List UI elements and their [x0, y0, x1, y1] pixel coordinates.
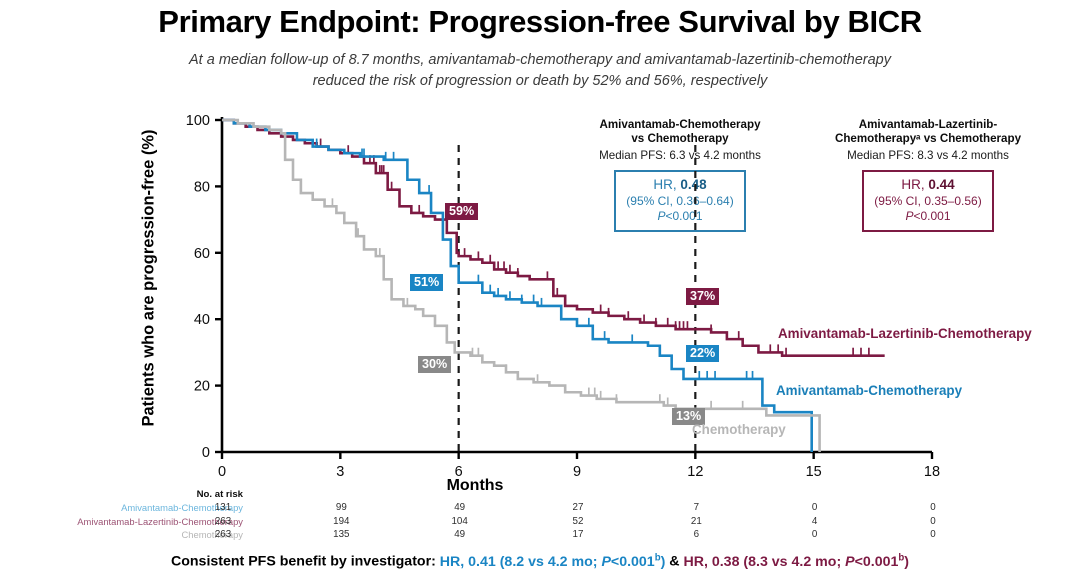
- curve-path: [222, 120, 820, 452]
- footer-blue-pre: HR, 0.41 (8.2 vs 4.2 mo;: [440, 554, 602, 570]
- axis-lines: [215, 117, 932, 459]
- slide-root: Primary Endpoint: Progression-free Survi…: [0, 0, 1080, 580]
- percent-callout-22-month-12: 22%: [686, 345, 719, 362]
- y-tick-20: 20: [194, 379, 210, 395]
- risk-cell-r1-c4: 27: [573, 502, 584, 513]
- risk-cell-r1-c7: 0: [930, 502, 935, 513]
- risk-cell-r3-c6: 0: [812, 529, 817, 540]
- percent-callout-59-month-6: 59%: [445, 203, 478, 220]
- footer-maroon-post: ): [904, 554, 909, 570]
- y-tick-80: 80: [194, 179, 210, 195]
- survival-curves: [222, 120, 885, 452]
- risk-cell-r3-c2: 135: [333, 529, 349, 540]
- risk-cell-r3-c4: 17: [573, 529, 584, 540]
- risk-cell-r2-c1: 263: [215, 516, 231, 527]
- risk-table-title: No. at risk: [197, 489, 243, 500]
- curve-path: [222, 120, 812, 452]
- curve-path: [222, 120, 885, 356]
- risk-cell-r3-c3: 49: [454, 529, 465, 540]
- y-tick-100: 100: [186, 113, 210, 129]
- percent-callout-51-month-6: 51%: [410, 274, 443, 291]
- number-at-risk-table: No. at risk Amivantamab-Chemotherapy1319…: [0, 489, 1080, 547]
- y-tick-0: 0: [202, 445, 210, 461]
- risk-cell-r3-c7: 0: [930, 529, 935, 540]
- footer-blue-p-rest: <0.001: [611, 554, 655, 570]
- footer-maroon-p: P: [845, 554, 854, 570]
- risk-row-label-3: Chemotherapy: [182, 529, 244, 540]
- footer-summary: Consistent PFS benefit by investigator: …: [0, 552, 1080, 570]
- risk-cell-r3-c5: 6: [694, 529, 699, 540]
- risk-cell-r2-c7: 0: [930, 516, 935, 527]
- footer-blue-p: P: [601, 554, 610, 570]
- percent-callout-37-month-12: 37%: [686, 288, 719, 305]
- x-tick-0: 0: [218, 464, 226, 480]
- risk-cell-r2-c2: 194: [333, 516, 349, 527]
- risk-cell-r1-c5: 7: [694, 502, 699, 513]
- y-tick-60: 60: [194, 246, 210, 262]
- x-tick-18: 18: [924, 464, 940, 480]
- risk-cell-r1-c6: 0: [812, 502, 817, 513]
- curve-chemotherapy: [222, 120, 820, 452]
- footer-ampersand: &: [665, 554, 683, 570]
- curve-amivantamab-lazertinib-chemotherapy: [222, 120, 885, 356]
- risk-cell-r2-c5: 21: [691, 516, 702, 527]
- curve-label-chemotherapy: Chemotherapy: [692, 422, 786, 437]
- footer-maroon-pre: HR, 0.38 (8.3 vs 4.2 mo;: [683, 554, 845, 570]
- x-tick-6: 6: [455, 464, 463, 480]
- x-tick-12: 12: [687, 464, 703, 480]
- risk-cell-r2-c4: 52: [573, 516, 584, 527]
- curve-label-amivantamab-chemotherapy: Amivantamab-Chemotherapy: [776, 383, 962, 398]
- reference-lines: [459, 145, 696, 452]
- risk-cell-r2-c6: 4: [812, 516, 817, 527]
- percent-callout-30-month-6: 30%: [418, 356, 451, 373]
- y-tick-40: 40: [194, 312, 210, 328]
- risk-cell-r1-c2: 99: [336, 502, 347, 513]
- x-tick-15: 15: [806, 464, 822, 480]
- curve-label-amivantamab-lazertinib-chemotherapy: Amivantamab-Lazertinib-Chemotherapy: [778, 326, 1032, 341]
- risk-cell-r1-c3: 49: [454, 502, 465, 513]
- footer-lead: Consistent PFS benefit by investigator:: [171, 554, 440, 570]
- x-tick-3: 3: [336, 464, 344, 480]
- curve-amivantamab-chemotherapy: [222, 120, 812, 452]
- footer-maroon-stat: HR, 0.38 (8.3 vs 4.2 mo; P<0.001b): [683, 554, 909, 570]
- risk-cell-r3-c1: 263: [215, 529, 231, 540]
- footer-maroon-p-rest: <0.001: [855, 554, 899, 570]
- risk-cell-r2-c3: 104: [451, 516, 467, 527]
- footer-blue-stat: HR, 0.41 (8.2 vs 4.2 mo; P<0.001b): [440, 554, 666, 570]
- risk-cell-r1-c1: 131: [215, 502, 231, 513]
- x-tick-9: 9: [573, 464, 581, 480]
